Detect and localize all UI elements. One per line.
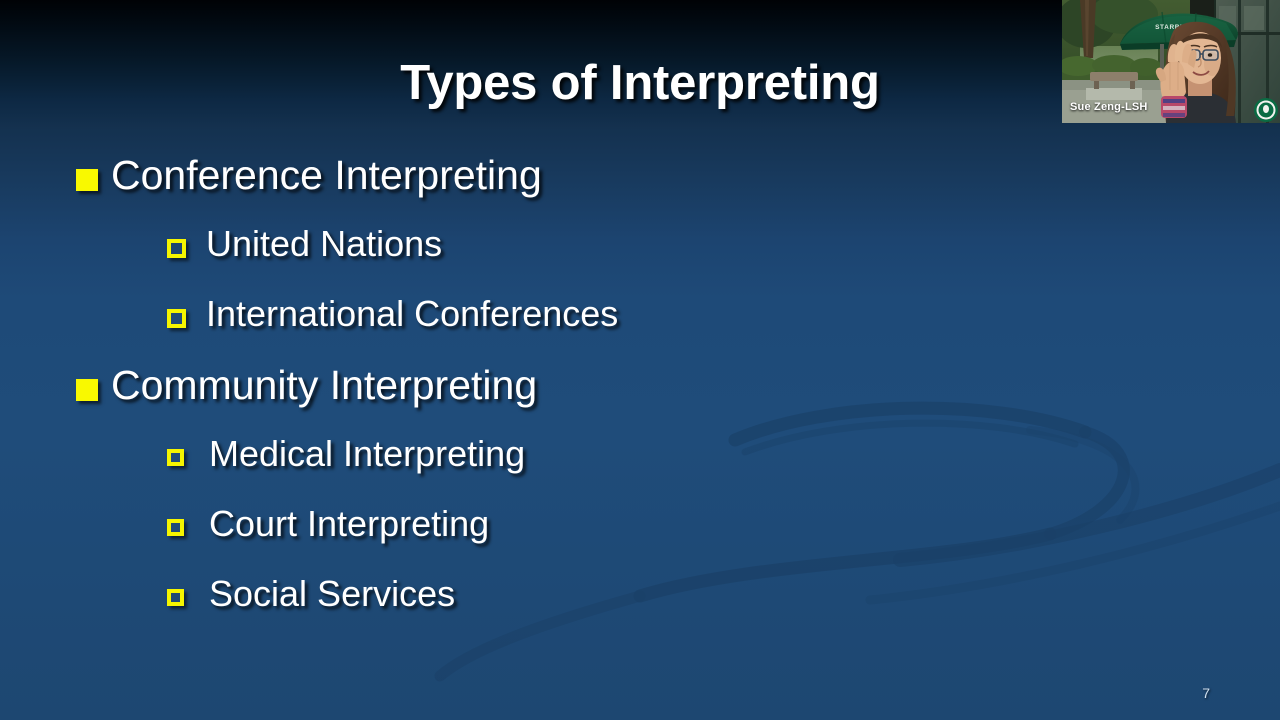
slide-body-list: Conference Interpreting United Nations I… bbox=[0, 152, 1060, 642]
list-item-label: Community Interpreting bbox=[111, 362, 537, 410]
list-item-label: Court Interpreting bbox=[209, 502, 489, 545]
list-item: Court Interpreting bbox=[0, 502, 1060, 572]
list-item-label: Medical Interpreting bbox=[209, 432, 525, 475]
list-item-label: United Nations bbox=[206, 222, 442, 265]
bullet-square-filled-icon bbox=[76, 379, 98, 401]
bullet-square-hollow-icon bbox=[167, 589, 184, 606]
list-item-label: Conference Interpreting bbox=[111, 152, 542, 200]
slide-page-number: 7 bbox=[1202, 685, 1210, 701]
list-item: Conference Interpreting bbox=[0, 152, 1060, 222]
list-item-label: Social Services bbox=[209, 572, 455, 615]
bullet-square-filled-icon bbox=[76, 169, 98, 191]
presentation-slide: Types of Interpreting Conference Interpr… bbox=[0, 0, 1280, 720]
bullet-square-hollow-icon bbox=[167, 309, 186, 328]
list-item: International Conferences bbox=[0, 292, 1060, 362]
list-item: Social Services bbox=[0, 572, 1060, 642]
list-item-label: International Conferences bbox=[206, 292, 618, 335]
list-item: Community Interpreting bbox=[0, 362, 1060, 432]
list-item: Medical Interpreting bbox=[0, 432, 1060, 502]
bullet-square-hollow-icon bbox=[167, 239, 186, 258]
bullet-square-hollow-icon bbox=[167, 449, 184, 466]
bullet-square-hollow-icon bbox=[167, 519, 184, 536]
presenter-name-label: Sue Zeng-LSH bbox=[1070, 101, 1148, 113]
list-item: United Nations bbox=[0, 222, 1060, 292]
presenter-video-overlay[interactable]: STARBUCKS bbox=[1062, 0, 1280, 123]
